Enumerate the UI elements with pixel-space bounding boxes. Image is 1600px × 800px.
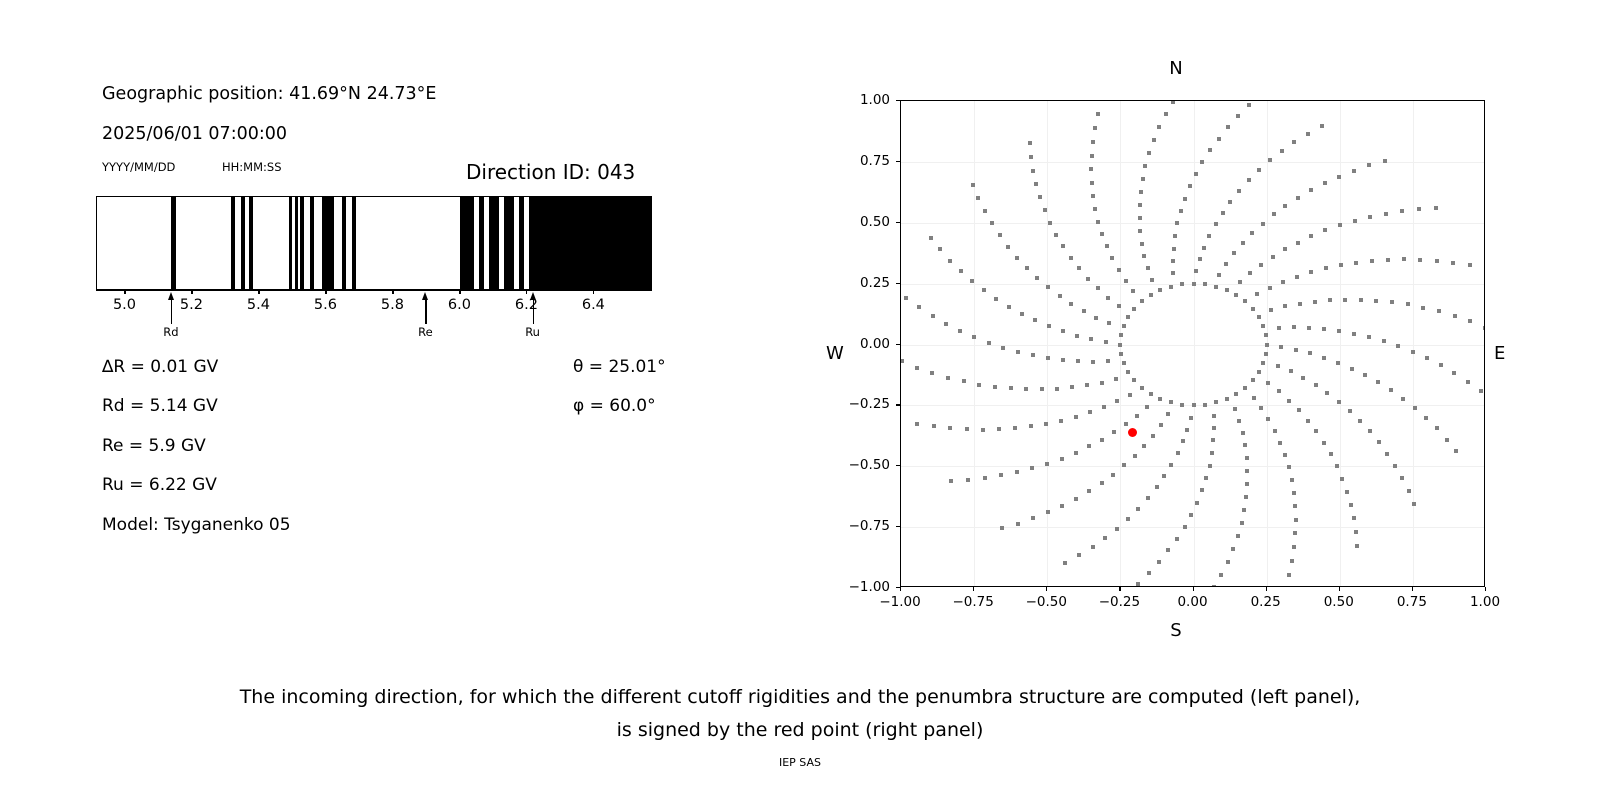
direction-point — [1424, 416, 1428, 420]
direction-point — [1368, 215, 1372, 219]
direction-point — [1074, 415, 1078, 419]
axis-tick — [191, 290, 192, 294]
direction-point — [946, 376, 950, 380]
direction-point — [1265, 343, 1269, 347]
direction-point — [1289, 369, 1293, 373]
direction-point — [1040, 387, 1044, 391]
direction-point — [1126, 517, 1130, 521]
direction-point — [917, 305, 921, 309]
direction-point — [1271, 255, 1275, 259]
direction-point — [1266, 381, 1270, 385]
direction-point — [1439, 363, 1443, 367]
direction-point — [1309, 270, 1313, 274]
axis-tick-label: 0.50 — [1324, 594, 1354, 610]
direction-point — [1020, 312, 1024, 316]
direction-point — [1242, 508, 1246, 512]
direction-point — [1007, 305, 1011, 309]
direction-point — [1402, 257, 1406, 261]
direction-point — [948, 259, 952, 263]
direction-point — [999, 473, 1003, 477]
direction-point — [982, 288, 986, 292]
direction-point — [1208, 464, 1212, 468]
direction-point — [1309, 188, 1313, 192]
direction-point — [1158, 397, 1162, 401]
direction-point — [1061, 358, 1065, 362]
axis-tick-label: −1.00 — [879, 594, 920, 610]
direction-point — [1413, 406, 1417, 410]
axis-tick — [896, 404, 900, 405]
axis-tick-label: −1.00 — [830, 579, 890, 595]
axis-tick — [124, 290, 125, 294]
direction-point — [1047, 324, 1051, 328]
compass-south-label: S — [826, 620, 1526, 641]
direction-point — [1322, 441, 1326, 445]
direction-point — [1283, 247, 1287, 251]
direction-point — [1061, 329, 1065, 333]
penumbra-forbidden-band — [171, 197, 176, 289]
direction-point — [1028, 141, 1032, 145]
direction-point — [1173, 234, 1177, 238]
direction-point — [1268, 158, 1272, 162]
arrow-shaft — [171, 298, 172, 324]
direction-point — [1119, 333, 1123, 337]
direction-point — [1434, 206, 1438, 210]
direction-point — [1162, 474, 1166, 478]
direction-point — [1329, 452, 1333, 456]
direction-point — [1140, 386, 1144, 390]
direction-point — [1313, 300, 1317, 304]
direction-point — [1376, 380, 1380, 384]
direction-point — [1034, 182, 1038, 186]
direction-point — [1224, 262, 1228, 266]
direction-point — [1107, 321, 1111, 325]
direction-point — [1437, 309, 1441, 313]
direction-point — [1117, 268, 1121, 272]
direction-point — [1138, 229, 1142, 233]
direction-point — [1343, 298, 1347, 302]
direction-point — [1345, 490, 1349, 494]
direction-point — [1287, 399, 1291, 403]
direction-point — [1247, 178, 1251, 182]
direction-point — [1277, 326, 1281, 330]
direction-point — [1425, 356, 1429, 360]
direction-point — [1192, 403, 1196, 407]
direction-point — [1247, 103, 1251, 107]
direction-point — [1292, 491, 1296, 495]
direction-point — [1264, 333, 1268, 337]
direction-point — [1314, 429, 1318, 433]
direction-point — [1236, 114, 1240, 118]
direction-point — [1290, 478, 1294, 482]
direction-point — [1149, 392, 1153, 396]
direction-point — [1217, 273, 1221, 277]
direction-point — [1234, 392, 1238, 396]
direction-point — [959, 269, 963, 273]
direction-point — [1181, 439, 1185, 443]
direction-point — [1091, 360, 1095, 364]
direction-point — [1354, 530, 1358, 534]
direction-point — [1309, 234, 1313, 238]
direction-point — [1140, 299, 1144, 303]
axis-tick — [896, 222, 900, 223]
direction-point — [1337, 400, 1341, 404]
direction-point — [1352, 516, 1356, 520]
axis-tick-label: 5.0 — [113, 297, 136, 313]
direction-point — [1114, 377, 1118, 381]
direction-point — [1411, 350, 1415, 354]
direction-point — [1006, 245, 1010, 249]
axis-tick — [1193, 587, 1194, 591]
direction-point — [1217, 137, 1221, 141]
axis-tick — [593, 290, 594, 294]
direction-point — [1016, 522, 1020, 526]
direction-point — [981, 428, 985, 432]
penumbra-forbidden-band — [289, 197, 292, 289]
direction-point — [1468, 263, 1472, 267]
direction-point — [1183, 197, 1187, 201]
axis-tick — [896, 283, 900, 284]
direction-point — [993, 385, 997, 389]
direction-point — [1259, 406, 1263, 410]
direction-point — [1406, 302, 1410, 306]
compass-north-label: N — [826, 58, 1526, 79]
figure-canvas: Geographic position: 41.69°N 24.73°E 202… — [0, 0, 1600, 800]
direction-point — [1389, 388, 1393, 392]
grid-line-horizontal — [901, 162, 1484, 163]
direction-point — [1202, 246, 1206, 250]
direction-point — [1283, 304, 1287, 308]
grid-line-vertical — [974, 101, 975, 586]
direction-point — [1100, 438, 1104, 442]
axis-tick-label: −0.75 — [952, 594, 993, 610]
direction-point — [1180, 403, 1184, 407]
direction-point — [1287, 573, 1291, 577]
penumbra-forbidden-band — [300, 197, 304, 289]
cutoff-arrow-label: Rd — [153, 325, 189, 339]
direction-point — [1136, 582, 1140, 586]
penumbra-forbidden-band — [352, 197, 356, 289]
direction-point — [1386, 258, 1390, 262]
direction-point — [1245, 482, 1249, 486]
direction-point — [1204, 476, 1208, 480]
axis-tick-label: 0.50 — [830, 214, 890, 230]
direction-point — [1100, 381, 1104, 385]
direction-point — [1261, 222, 1265, 226]
direction-point — [1094, 316, 1098, 320]
direction-point — [1261, 361, 1265, 365]
direction-point — [966, 478, 970, 482]
direction-point — [1119, 352, 1123, 356]
axis-tick — [900, 587, 901, 591]
direction-point — [1257, 168, 1261, 172]
direction-point — [1063, 561, 1067, 565]
direction-point — [1243, 299, 1247, 303]
direction-point — [1180, 282, 1184, 286]
direction-point — [1248, 271, 1252, 275]
direction-point — [1324, 266, 1328, 270]
direction-point — [1189, 416, 1193, 420]
axis-tick-label: 0.00 — [1177, 594, 1207, 610]
direction-point — [1115, 527, 1119, 531]
direction-point — [1139, 190, 1143, 194]
axis-tick-label: 0.00 — [830, 336, 890, 352]
direction-point — [1100, 481, 1104, 485]
parameter-text: Rd = 5.14 GV — [102, 396, 218, 416]
direction-point — [1188, 184, 1192, 188]
direction-point — [1354, 261, 1358, 265]
direction-point — [1111, 473, 1115, 477]
axis-tick — [392, 290, 393, 294]
direction-point — [1412, 502, 1416, 506]
axis-tick-label: 0.75 — [830, 153, 890, 169]
direction-point — [983, 209, 987, 213]
direction-point — [1273, 429, 1277, 433]
direction-point — [1385, 452, 1389, 456]
axis-tick — [459, 290, 460, 294]
axis-tick — [1119, 587, 1120, 591]
direction-point — [1200, 488, 1204, 492]
direction-point — [1207, 234, 1211, 238]
direction-point — [1082, 309, 1086, 313]
axis-tick — [896, 161, 900, 162]
direction-point — [1383, 159, 1387, 163]
axis-tick-label: 0.75 — [1397, 594, 1427, 610]
direction-point — [1278, 441, 1282, 445]
direction-point — [1106, 296, 1110, 300]
direction-point — [1117, 304, 1121, 308]
direction-point — [1185, 428, 1189, 432]
direction-point — [998, 233, 1002, 237]
direction-point — [915, 366, 919, 370]
penumbra-forbidden-band — [460, 197, 474, 289]
direction-point — [1159, 423, 1163, 427]
axis-tick — [325, 290, 326, 294]
direction-point — [1085, 383, 1089, 387]
axis-tick-label: 5.8 — [381, 297, 404, 313]
direction-point — [1244, 495, 1248, 499]
direction-point — [1070, 385, 1074, 389]
direction-point — [1029, 424, 1033, 428]
direction-point — [997, 427, 1001, 431]
direction-point — [1261, 324, 1265, 328]
direction-point — [1166, 548, 1170, 552]
arrow-shaft — [533, 298, 534, 324]
direction-point — [1025, 266, 1029, 270]
direction-point — [931, 314, 935, 318]
direction-point — [1294, 348, 1298, 352]
direction-point — [1077, 553, 1081, 557]
direction-point — [1323, 228, 1327, 232]
direction-point — [1076, 359, 1080, 363]
time-format-label: HH:MM:SS — [222, 160, 282, 174]
direction-point — [1337, 329, 1341, 333]
direction-point — [1435, 426, 1439, 430]
direction-point — [1035, 276, 1039, 280]
direction-point — [1088, 410, 1092, 414]
direction-point — [1269, 308, 1273, 312]
direction-point — [1169, 463, 1173, 467]
direction-point — [1031, 169, 1035, 173]
caption-line-1: The incoming direction, for which the di… — [0, 686, 1600, 708]
direction-point — [1122, 324, 1126, 328]
direction-point — [1183, 525, 1187, 529]
direction-point — [1029, 155, 1033, 159]
direction-point — [1225, 288, 1229, 292]
direction-point — [1283, 453, 1287, 457]
direction-point — [1140, 242, 1144, 246]
axis-tick-label: −0.25 — [830, 396, 890, 412]
direction-point — [1400, 209, 1404, 213]
direction-point — [1454, 449, 1458, 453]
penumbra-forbidden-band — [310, 197, 314, 289]
direction-point — [1240, 521, 1244, 525]
direction-point — [1038, 195, 1042, 199]
compass-east-label: E — [1494, 343, 1505, 364]
direction-point — [1166, 412, 1170, 416]
direction-point — [1363, 373, 1367, 377]
direction-point — [1251, 307, 1255, 311]
axis-tick — [1046, 587, 1047, 591]
direction-point — [932, 424, 936, 428]
direction-point — [1353, 219, 1357, 223]
direction-point — [1074, 497, 1078, 501]
direction-point — [994, 297, 998, 301]
direction-point — [1055, 387, 1059, 391]
penumbra-forbidden-band — [241, 197, 245, 289]
direction-point — [958, 329, 962, 333]
direction-point — [1283, 204, 1287, 208]
direction-point — [1046, 356, 1050, 360]
direction-point — [1146, 266, 1150, 270]
direction-point — [1133, 454, 1137, 458]
axis-tick — [973, 587, 974, 591]
direction-point — [900, 359, 904, 363]
penumbra-forbidden-band — [322, 197, 335, 289]
direction-point — [1214, 400, 1218, 404]
direction-point — [1110, 256, 1114, 260]
direction-point — [1322, 327, 1326, 331]
direction-point — [1336, 361, 1340, 365]
direction-point — [1479, 389, 1483, 393]
direction-point — [1257, 370, 1261, 374]
direction-point — [1339, 263, 1343, 267]
sky-map-plot-area — [900, 100, 1485, 587]
direction-point — [1138, 216, 1142, 220]
direction-point — [1241, 431, 1245, 435]
direction-point — [970, 279, 974, 283]
direction-point — [1279, 345, 1283, 349]
axis-tick — [258, 290, 259, 294]
direction-point — [1075, 334, 1079, 338]
direction-point — [1219, 573, 1223, 577]
direction-point — [1296, 196, 1300, 200]
direction-point — [1452, 371, 1456, 375]
direction-point — [1320, 124, 1324, 128]
cutoff-arrow-label: Re — [407, 325, 443, 339]
direction-point — [983, 476, 987, 480]
direction-point — [1390, 300, 1394, 304]
direction-point — [1136, 507, 1140, 511]
axis-tick-label: 5.2 — [180, 297, 203, 313]
direction-point — [1238, 280, 1242, 284]
direction-point — [1251, 378, 1255, 382]
direction-point — [1155, 485, 1159, 489]
direction-point — [1292, 325, 1296, 329]
direction-point — [1352, 169, 1356, 173]
direction-point — [1306, 419, 1310, 423]
axis-tick-label: 6.4 — [582, 297, 605, 313]
direction-point — [1226, 125, 1230, 129]
direction-point — [1255, 292, 1259, 296]
direction-point — [1359, 298, 1363, 302]
direction-point — [1212, 585, 1216, 587]
direction-point — [1367, 163, 1371, 167]
direction-point — [1086, 277, 1090, 281]
direction-point — [1044, 422, 1048, 426]
direction-point — [1296, 241, 1300, 245]
direction-point — [1340, 477, 1344, 481]
direction-point — [904, 296, 908, 300]
direction-point — [1175, 221, 1179, 225]
direction-point — [1115, 399, 1119, 403]
direction-point — [1096, 286, 1100, 290]
direction-point — [977, 383, 981, 387]
direction-point — [1393, 464, 1397, 468]
direction-point — [1016, 350, 1020, 354]
direction-point — [976, 196, 980, 200]
axis-tick-label: 5.4 — [247, 297, 270, 313]
direction-point — [929, 236, 933, 240]
direction-point — [1045, 462, 1049, 466]
direction-point — [1396, 344, 1400, 348]
direction-point — [1323, 181, 1327, 185]
direction-point — [1243, 386, 1247, 390]
direction-point — [1368, 429, 1372, 433]
axis-tick — [1412, 587, 1413, 591]
direction-point — [1203, 403, 1207, 407]
direction-point — [1349, 503, 1353, 507]
date-format-label: YYYY/MM/DD — [102, 160, 175, 174]
direction-point — [1069, 256, 1073, 260]
direction-point — [1058, 294, 1062, 298]
direction-point — [990, 221, 994, 225]
direction-point — [1126, 370, 1130, 374]
direction-point — [1231, 547, 1235, 551]
direction-point — [1171, 271, 1175, 275]
direction-point — [1295, 275, 1299, 279]
direction-point — [1194, 269, 1198, 273]
direction-point — [1091, 545, 1095, 549]
direction-point — [1325, 391, 1329, 395]
direction-point — [1104, 340, 1108, 344]
direction-point — [1236, 534, 1240, 538]
direction-point — [1096, 112, 1100, 116]
direction-point — [1377, 440, 1381, 444]
direction-point — [949, 479, 953, 483]
direction-point — [1015, 470, 1019, 474]
penumbra-axis-line — [96, 290, 652, 291]
direction-point — [1245, 469, 1249, 473]
direction-point — [1141, 177, 1145, 181]
direction-point — [1061, 244, 1065, 248]
direction-point — [1418, 258, 1422, 262]
direction-point — [1090, 181, 1094, 185]
direction-point — [1212, 426, 1216, 430]
direction-point — [962, 379, 966, 383]
direction-point — [1243, 443, 1247, 447]
direction-point — [1195, 501, 1199, 505]
direction-point — [1211, 438, 1215, 442]
